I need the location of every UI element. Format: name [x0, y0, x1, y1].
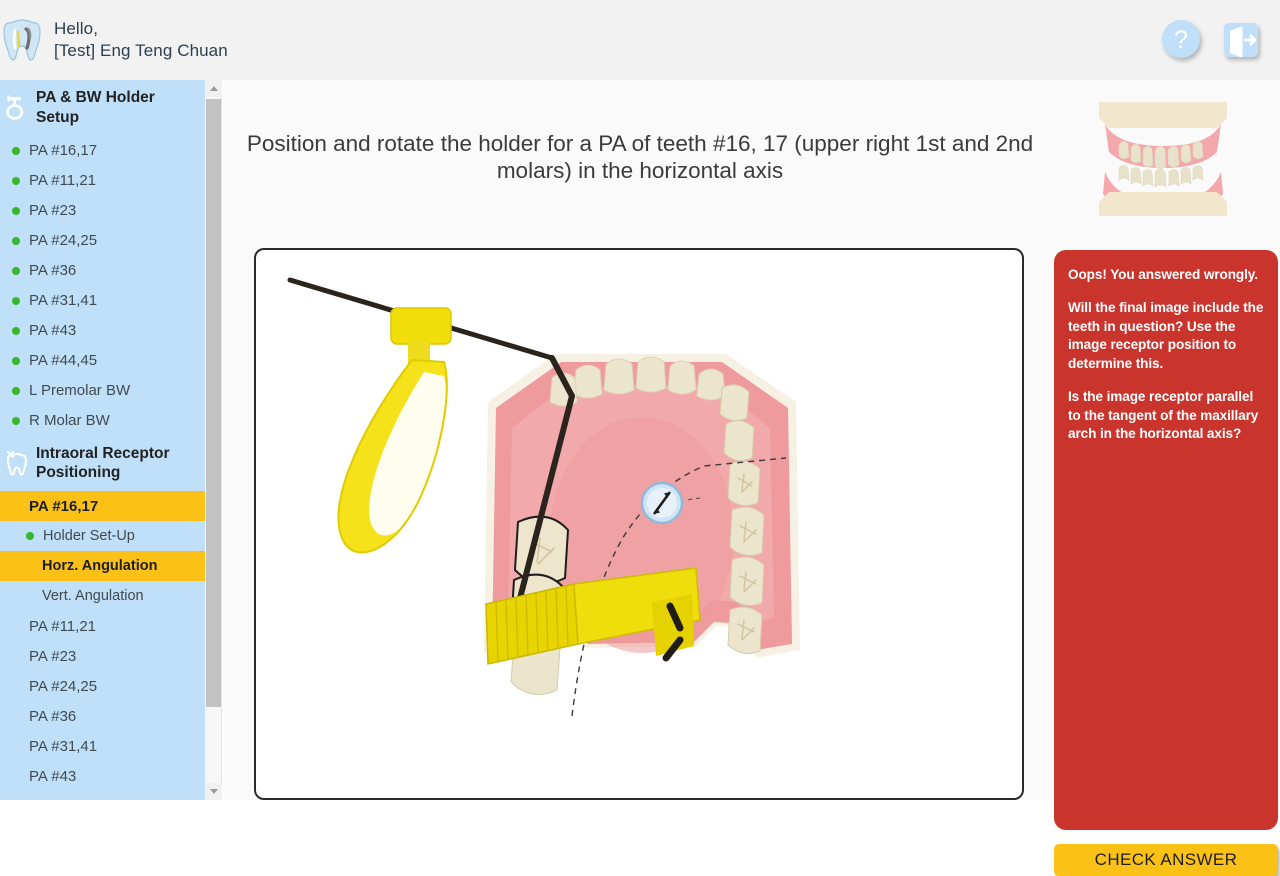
- sidebar-item-pa-16-17[interactable]: PA #16,17: [0, 136, 205, 166]
- sidebar-scrollbar[interactable]: [205, 80, 222, 800]
- sidebar-item-pa-11-21[interactable]: PA #11,21: [0, 166, 205, 196]
- status-dot: [12, 147, 20, 155]
- sidebar-group-header-receptor-positioning[interactable]: Intraoral Receptor Positioning: [0, 436, 205, 492]
- sidebar-item-label: PA #24,25: [29, 678, 97, 695]
- sidebar-item-pa-11-21[interactable]: PA #11,21: [0, 611, 205, 641]
- sidebar-item-pa-16-17[interactable]: PA #16,17: [0, 491, 205, 521]
- interactive-canvas[interactable]: [254, 248, 1024, 800]
- status-dot: [12, 357, 20, 365]
- sidebar-item-holder-set-up[interactable]: Holder Set-Up: [0, 521, 205, 551]
- sidebar-nav[interactable]: PA & BW Holder Setup PA #16,17PA #11,21P…: [0, 80, 205, 800]
- sidebar-item-label: R Molar BW: [29, 412, 110, 429]
- sidebar-item-label: Holder Set-Up: [43, 528, 135, 544]
- sidebar-item-label: PA #23: [29, 648, 76, 665]
- sidebar-item-label: Horz. Angulation: [42, 558, 157, 574]
- sidebar-item-label: PA #43: [29, 322, 76, 339]
- sidebar-item-pa-31-41[interactable]: PA #31,41: [0, 731, 205, 761]
- sidebar-group-title: PA & BW Holder Setup: [36, 88, 197, 128]
- sidebar-group-header-holder-setup[interactable]: PA & BW Holder Setup: [0, 80, 205, 136]
- page-title: Position and rotate the holder for a PA …: [245, 130, 1035, 185]
- svg-text:?: ?: [1174, 26, 1188, 54]
- sidebar-group-items-holder-setup: PA #16,17PA #11,21PA #23PA #24,25PA #36P…: [0, 136, 205, 436]
- sidebar-group-title: Intraoral Receptor Positioning: [36, 444, 197, 484]
- holder-aiming-arm: [391, 308, 451, 364]
- sidebar-group-items-receptor-positioning: PA #16,17Holder Set-UpHorz. AngulationVe…: [0, 491, 205, 791]
- check-answer-button[interactable]: CHECK ANSWER: [1054, 844, 1278, 876]
- sidebar-item-pa-43[interactable]: PA #43: [0, 316, 205, 346]
- caret-up-icon[interactable]: [205, 80, 222, 97]
- status-dot: [12, 267, 20, 275]
- feedback-paragraph: Oops! You answered wrongly.: [1068, 266, 1264, 285]
- tooth-logo-icon: [2, 16, 42, 64]
- sidebar-item-pa-44-45[interactable]: PA #44,45: [0, 346, 205, 376]
- tooth-outline-icon: [4, 448, 30, 478]
- scrollbar-thumb[interactable]: [206, 99, 221, 707]
- sidebar-item-label: PA #11,21: [29, 172, 96, 189]
- main-content: Position and rotate the holder for a PA …: [223, 80, 1280, 800]
- help-question-icon[interactable]: ?: [1160, 18, 1204, 62]
- sidebar-item-label: Vert. Angulation: [42, 588, 144, 604]
- status-dot: [12, 297, 20, 305]
- logout-door-arrow-icon[interactable]: [1220, 18, 1264, 62]
- feedback-panel: Oops! You answered wrongly. Will the fin…: [1054, 250, 1278, 830]
- sidebar-item-r-molar-bw[interactable]: R Molar BW: [0, 406, 205, 436]
- holder-aiming-ring: [338, 360, 446, 553]
- feedback-paragraph: Will the final image include the teeth i…: [1068, 299, 1264, 374]
- status-dot: [12, 387, 20, 395]
- feedback-paragraph: Is the image receptor parallel to the ta…: [1068, 388, 1264, 444]
- sidebar-item-label: PA #23: [29, 202, 76, 219]
- app-header: Hello, [Test] Eng Teng Chuan ?: [0, 0, 1280, 80]
- sidebar-item-label: PA #11,21: [29, 618, 96, 635]
- sidebar-item-label: PA #43: [29, 768, 76, 785]
- sidebar-item-label: PA #16,17: [29, 498, 98, 515]
- sidebar-item-label: PA #16,17: [29, 142, 97, 159]
- sidebar-item-pa-43[interactable]: PA #43: [0, 761, 205, 791]
- sidebar-item-vert-angulation[interactable]: Vert. Angulation: [0, 581, 205, 611]
- sidebar-item-label: PA #31,41: [29, 738, 97, 755]
- sidebar-item-label: PA #31,41: [29, 292, 97, 309]
- sidebar-item-label: PA #24,25: [29, 232, 97, 249]
- sidebar-item-pa-24-25[interactable]: PA #24,25: [0, 226, 205, 256]
- status-dot: [26, 532, 34, 540]
- header-actions: ?: [1160, 18, 1264, 62]
- sidebar-item-label: PA #44,45: [29, 352, 97, 369]
- greeting-username: [Test] Eng Teng Chuan: [54, 40, 228, 62]
- status-dot: [12, 327, 20, 335]
- status-dot: [12, 177, 20, 185]
- sidebar-item-l-premolar-bw[interactable]: L Premolar BW: [0, 376, 205, 406]
- greeting-hello: Hello,: [54, 18, 228, 40]
- sidebar-item-label: PA #36: [29, 708, 76, 725]
- rotate-handle-icon: [642, 483, 682, 523]
- status-dot: [12, 237, 20, 245]
- sidebar-item-horz-angulation[interactable]: Horz. Angulation: [0, 551, 205, 581]
- holder-ring-icon: [4, 93, 30, 123]
- sidebar-item-pa-36[interactable]: PA #36: [0, 701, 205, 731]
- caret-down-icon[interactable]: [205, 783, 222, 800]
- status-dot: [12, 207, 20, 215]
- greeting-block: Hello, [Test] Eng Teng Chuan: [54, 18, 228, 63]
- sidebar-item-label: L Premolar BW: [29, 382, 130, 399]
- status-dot: [12, 417, 20, 425]
- sidebar-item-pa-23[interactable]: PA #23: [0, 196, 205, 226]
- sidebar-item-pa-23[interactable]: PA #23: [0, 641, 205, 671]
- sidebar-item-pa-31-41[interactable]: PA #31,41: [0, 286, 205, 316]
- dental-model-thumbnail: [1085, 88, 1241, 230]
- sidebar-item-label: PA #36: [29, 262, 76, 279]
- sidebar-item-pa-36[interactable]: PA #36: [0, 256, 205, 286]
- sidebar-item-pa-24-25[interactable]: PA #24,25: [0, 671, 205, 701]
